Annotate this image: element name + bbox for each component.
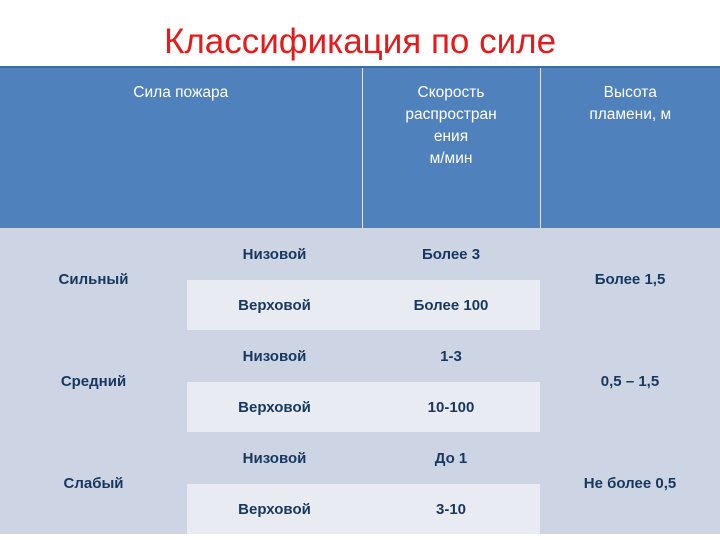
header-spread-speed-line1: Скорость bbox=[367, 82, 536, 104]
table-row: Средний Низовой 1-3 0,5 – 1,5 bbox=[0, 330, 720, 382]
cell-speed-2-0: До 1 bbox=[362, 432, 540, 484]
cell-strength-2: Слабый bbox=[0, 432, 187, 534]
header-spread-speed-line3: ения bbox=[367, 126, 536, 148]
fire-classification-table: Сила пожара Скорость распростран ения м/… bbox=[0, 66, 720, 534]
cell-firetype-2-1: Верховой bbox=[187, 484, 362, 534]
cell-strength-0: Сильный bbox=[0, 228, 187, 330]
page-title: Классификация по силе bbox=[0, 20, 720, 64]
cell-flameheight-1: 0,5 – 1,5 bbox=[540, 330, 720, 432]
cell-speed-0-1: Более 100 bbox=[362, 280, 540, 330]
cell-speed-1-1: 10-100 bbox=[362, 382, 540, 432]
header-fire-strength: Сила пожара bbox=[0, 67, 362, 228]
table-header-row: Сила пожара Скорость распростран ения м/… bbox=[0, 67, 720, 228]
header-flame-height: Высота пламени, м bbox=[540, 67, 720, 228]
cell-speed-1-0: 1-3 bbox=[362, 330, 540, 382]
table-row: Слабый Низовой До 1 Не более 0,5 bbox=[0, 432, 720, 484]
cell-flameheight-2: Не более 0,5 bbox=[540, 432, 720, 534]
cell-firetype-0-1: Верховой bbox=[187, 280, 362, 330]
cell-firetype-0-0: Низовой bbox=[187, 228, 362, 280]
slide: Классификация по силе Сила пожара Скорос… bbox=[0, 0, 720, 540]
cell-strength-1: Средний bbox=[0, 330, 187, 432]
header-spread-speed: Скорость распростран ения м/мин bbox=[362, 67, 540, 228]
header-flame-height-line1: Высота bbox=[545, 82, 717, 104]
cell-firetype-1-1: Верховой bbox=[187, 382, 362, 432]
cell-flameheight-0: Более 1,5 bbox=[540, 228, 720, 330]
table-row: Сильный Низовой Более 3 Более 1,5 bbox=[0, 228, 720, 280]
cell-speed-0-0: Более 3 bbox=[362, 228, 540, 280]
cell-speed-2-1: 3-10 bbox=[362, 484, 540, 534]
header-spread-speed-line4: м/мин bbox=[367, 148, 536, 170]
header-flame-height-line2: пламени, м bbox=[545, 104, 717, 126]
cell-firetype-2-0: Низовой bbox=[187, 432, 362, 484]
cell-firetype-1-0: Низовой bbox=[187, 330, 362, 382]
header-spread-speed-line2: распростран bbox=[367, 104, 536, 126]
